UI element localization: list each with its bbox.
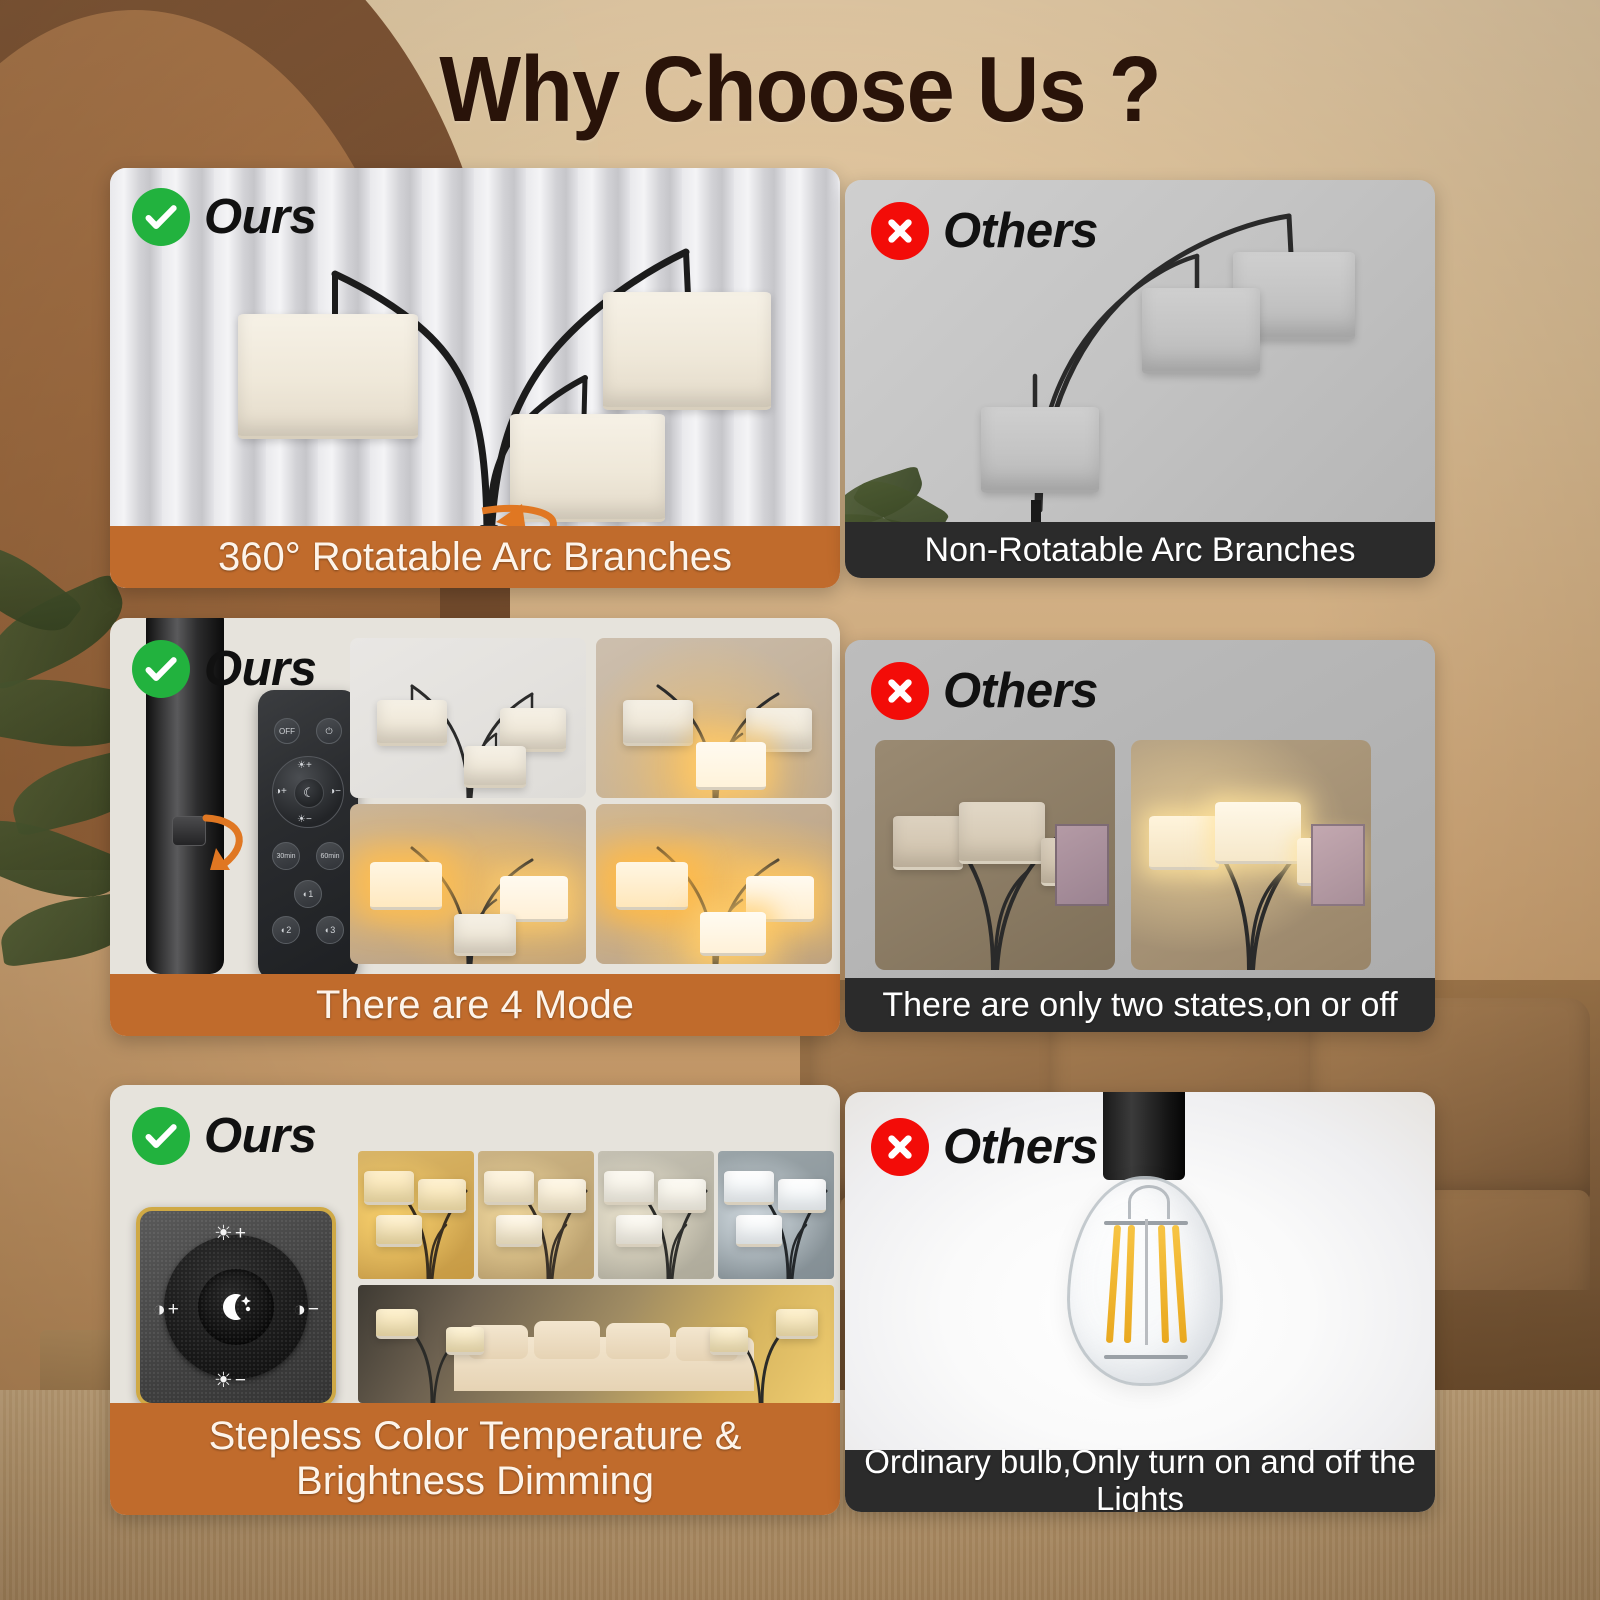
night-mode-button[interactable] <box>198 1269 274 1345</box>
ours-badge-rotation: Ours <box>132 188 316 246</box>
comparison-others-modes-panel: Others There are only two states,on or o… <box>845 640 1435 1032</box>
caption-line-2: Brightness Dimming <box>296 1459 654 1504</box>
ours-badge-modes: Ours <box>132 640 316 698</box>
others-badge-bulb: Others <box>871 1118 1098 1176</box>
caption-others-modes: There are only two states,on or off <box>845 978 1435 1032</box>
state-thumbnail-on <box>1131 740 1371 970</box>
ours-label: Ours <box>204 193 316 242</box>
lamp-remote-control[interactable]: OFF ⏻ ☀+ ☀− ◑+ ◑− ☾ 30min 60min ◐1 ◐2 ◐3 <box>258 690 358 980</box>
caption-line-1: Stepless Color Temperature & <box>209 1414 742 1459</box>
off-button[interactable]: OFF <box>274 718 300 744</box>
lamp-shade <box>238 314 418 439</box>
ours-label: Ours <box>204 645 316 694</box>
comparison-others-bulb-panel: Others Ordinary bulb,Only turn on and of… <box>845 1092 1435 1512</box>
others-badge-modes: Others <box>871 662 1098 720</box>
state-thumbnail-off <box>875 740 1115 970</box>
caption-ours-rotation: 360° Rotatable Arc Branches <box>110 526 840 588</box>
mode-thumbnail-2 <box>596 638 832 798</box>
comparison-ours-modes-panel: OFF ⏻ ☀+ ☀− ◑+ ◑− ☾ 30min 60min ◐1 ◐2 ◐3 <box>110 618 840 1036</box>
temperature-thumbnail-cool-white-6000k <box>718 1151 834 1279</box>
comparison-ours-rotation-panel: Ours 360° Rotatable Arc Branches <box>110 168 840 588</box>
timer-60-button[interactable]: 60min <box>316 842 344 870</box>
lamp-3-button[interactable]: ◐3 <box>316 916 344 944</box>
temp-warm-icon[interactable]: ◑+ <box>153 1299 179 1320</box>
lamp-1-button[interactable]: ◐1 <box>294 880 322 908</box>
page-title: Why Choose Us ? <box>56 36 1544 143</box>
power-button[interactable]: ⏻ <box>316 718 342 744</box>
others-badge-rotation: Others <box>871 202 1098 260</box>
others-label: Others <box>943 667 1098 716</box>
timer-30-button[interactable]: 30min <box>272 842 300 870</box>
mode-thumbnail-4 <box>596 804 832 964</box>
others-label: Others <box>943 1123 1098 1172</box>
caption-others-rotation: Non-Rotatable Arc Branches <box>845 522 1435 578</box>
x-circle-icon <box>871 202 929 260</box>
caption-others-bulb: Ordinary bulb,Only turn on and off the L… <box>845 1450 1435 1512</box>
knob-rotation-arrow-icon <box>196 804 262 876</box>
living-room-wide-photo <box>358 1285 834 1403</box>
temperature-thumbnail-warm-3000k <box>358 1151 474 1279</box>
mode-thumbnail-3 <box>350 804 586 964</box>
remote-dimmer-pad[interactable]: ☀+ ☀− ◑+ ◑− ☾ <box>272 756 344 828</box>
ours-badge-dimming: Ours <box>132 1107 316 1165</box>
mode-thumbnail-1 <box>350 638 586 798</box>
caption-ours-modes: There are 4 Mode <box>110 974 840 1036</box>
ours-label: Ours <box>204 1112 316 1161</box>
others-label: Others <box>943 207 1098 256</box>
caption-ours-dimming: Stepless Color Temperature & Brightness … <box>110 1403 840 1515</box>
lamp-2-button[interactable]: ◐2 <box>272 916 300 944</box>
bulb-socket <box>1103 1092 1185 1180</box>
brightness-up-icon[interactable]: ☀+ <box>214 1223 246 1244</box>
check-circle-icon <box>132 1107 190 1165</box>
lamp-shade <box>603 292 771 410</box>
temperature-thumbnail-soft-warm <box>478 1151 594 1279</box>
comparison-others-rotation-panel: Others Non-Rotatable Arc Branches <box>845 180 1435 578</box>
temperature-thumbnail-neutral-4000k <box>598 1151 714 1279</box>
dimmer-ring[interactable] <box>164 1235 308 1379</box>
check-circle-icon <box>132 640 190 698</box>
comparison-ours-dimming-panel: ☀+ ☀− ◑+ ◑− <box>110 1085 840 1515</box>
lamp-shade <box>1142 288 1260 374</box>
brightness-down-icon[interactable]: ☀− <box>214 1370 246 1391</box>
x-circle-icon <box>871 1118 929 1176</box>
lamp-shade <box>981 407 1099 493</box>
moon-stars-icon <box>216 1287 256 1327</box>
night-mode-button[interactable]: ☾ <box>294 778 324 808</box>
x-circle-icon <box>871 662 929 720</box>
check-circle-icon <box>132 188 190 246</box>
stepless-dimmer-dial[interactable]: ☀+ ☀− ◑+ ◑− <box>136 1207 336 1407</box>
temp-cool-icon[interactable]: ◑− <box>293 1299 319 1320</box>
